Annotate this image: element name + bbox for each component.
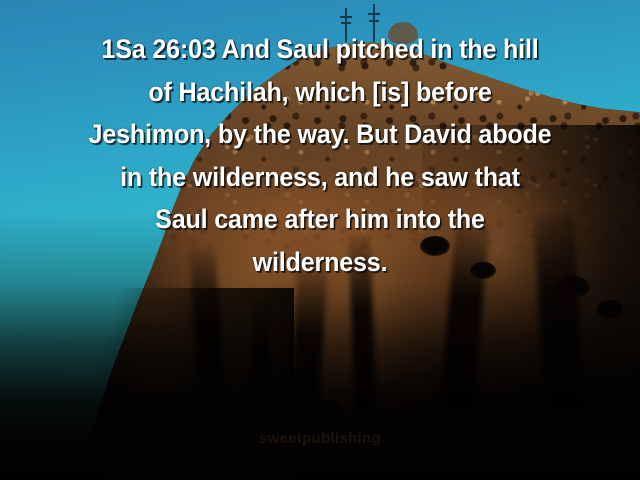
- cliff-cave: [596, 300, 624, 319]
- cliff-cave: [318, 400, 342, 416]
- scripture-verse-image: sweetpublishing 1Sa 26:03 And Saul pitch…: [0, 0, 640, 480]
- cliff-cave: [250, 352, 268, 365]
- verse-text: 1Sa 26:03 And Saul pitched in the hill o…: [22, 28, 617, 283]
